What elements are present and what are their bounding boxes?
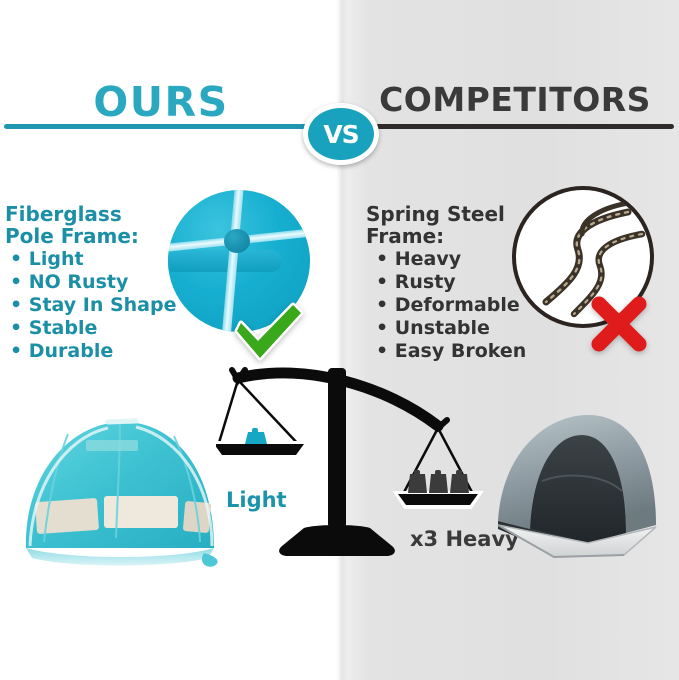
header-rule-right	[372, 124, 674, 129]
weight-light	[245, 428, 267, 444]
left-heading-line2: Pole Frame:	[5, 225, 177, 247]
left-feature-item: • Light	[5, 248, 177, 271]
left-feature-item: • Stable	[5, 317, 177, 340]
right-feature-item: • Deformable	[366, 294, 526, 317]
right-feature-item: • Rusty	[366, 271, 526, 294]
panel-divider	[331, 0, 347, 680]
left-heading-line1: Fiberglass	[5, 203, 177, 225]
left-feature-item: • NO Rusty	[5, 271, 177, 294]
tent-pocket-seam	[168, 250, 282, 272]
comparison-infographic: OURS COMPETITORS VS Fiberglass Pole Fram…	[0, 0, 679, 680]
right-feature-item: • Unstable	[366, 317, 526, 340]
left-feature-item: • Stay In Shape	[5, 294, 177, 317]
left-feature-item: • Durable	[5, 340, 177, 363]
green-check-icon	[231, 301, 305, 363]
page-title-competitors: COMPETITORS	[360, 80, 670, 119]
weights-heavy	[408, 470, 469, 493]
right-heading-line1: Spring Steel	[366, 203, 526, 225]
right-heading-line2: Frame:	[366, 225, 526, 247]
grey-beach-tent-photo	[476, 405, 676, 570]
header-rule-left	[4, 124, 310, 129]
page-title-ours: OURS	[0, 78, 322, 126]
teal-beach-tent-photo	[8, 408, 236, 573]
right-feature-item: • Heavy	[366, 248, 526, 271]
red-cross-icon	[588, 293, 650, 355]
scale-pan-right	[398, 428, 478, 506]
left-feature-list: Fiberglass Pole Frame: • Light • NO Rust…	[5, 203, 177, 364]
pole-crossing-hub	[224, 229, 250, 253]
vs-badge: VS	[303, 103, 379, 165]
right-feature-list: Spring Steel Frame: • Heavy • Rusty • De…	[366, 203, 526, 364]
